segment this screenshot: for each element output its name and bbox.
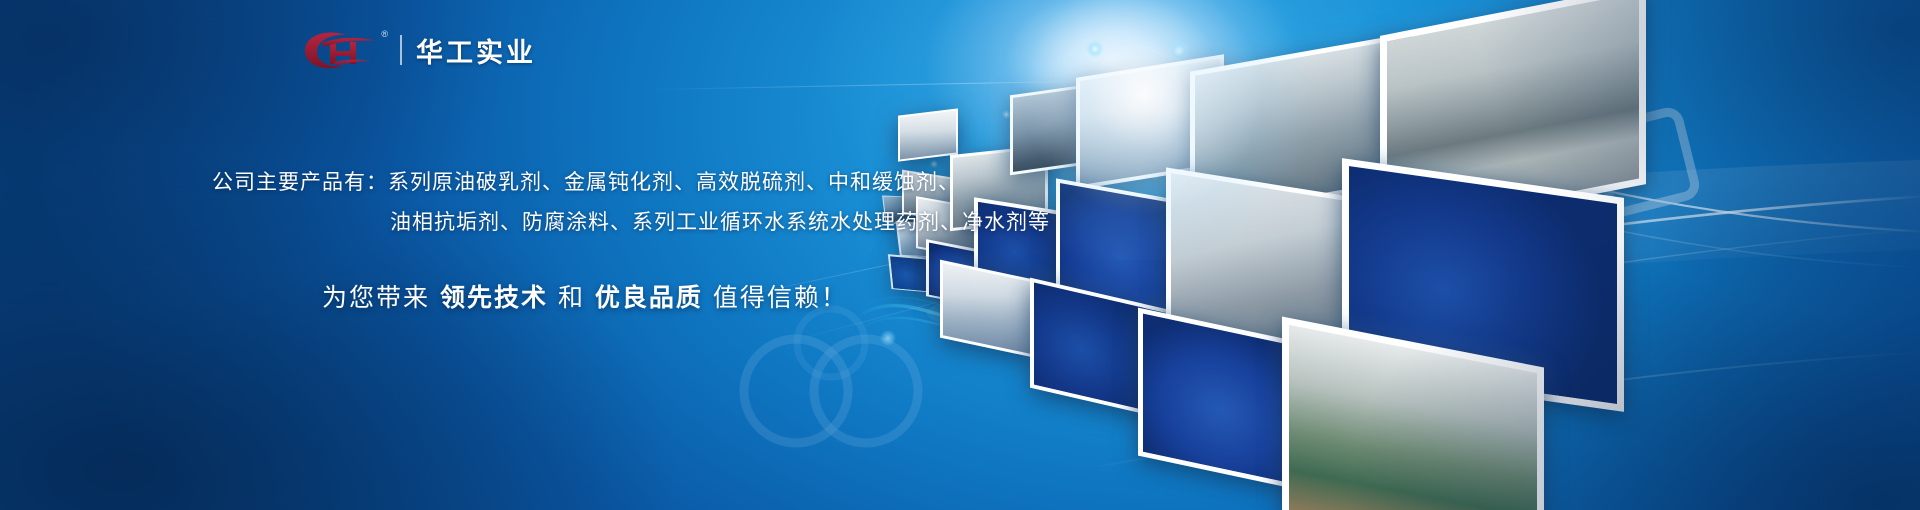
collage-photo-image — [1195, 42, 1385, 216]
collage-photo — [1342, 158, 1624, 412]
collage-photo — [1380, 0, 1646, 236]
vignette-overlay — [0, 0, 1920, 510]
collage-photo-image — [900, 111, 956, 160]
product-description: 公司主要产品有：系列原油破乳剂、金属钝化剂、高效脱硫剂、中和缓蚀剂、 油相抗垢剂… — [0, 162, 1100, 242]
collage-photo — [1282, 317, 1544, 510]
collage-photo-image — [1349, 166, 1617, 404]
glow-particle — [1150, 170, 1160, 180]
glow-particle — [1120, 330, 1134, 344]
collage-photo-image — [1171, 173, 1371, 355]
collage-photo — [940, 260, 1038, 359]
circle-watermarks — [700, 295, 960, 475]
company-name: 华工实业 — [416, 31, 536, 70]
perspective-guide-line — [1110, 57, 1590, 71]
collage-photo — [1166, 167, 1376, 360]
tagline-emphasis-quality: 优良品质 — [595, 283, 703, 312]
light-swoosh-curves — [1100, 0, 1920, 510]
company-logo[interactable]: ® 华工实业 — [300, 28, 536, 72]
hero-banner: ® 华工实业 公司主要产品有：系列原油破乳剂、金属钝化剂、高效脱硫剂、中和缓蚀剂… — [0, 0, 1920, 510]
photo-collage — [880, 0, 1920, 510]
collage-photo — [1138, 308, 1330, 497]
glow-particle — [912, 248, 924, 260]
collage-photo-image — [1143, 314, 1325, 491]
collage-photo-image — [929, 242, 995, 307]
glow-particle — [1086, 40, 1104, 58]
collage-photo — [926, 239, 997, 310]
collage-photo — [1190, 36, 1390, 221]
collage-photo-image — [890, 256, 934, 291]
collage-photo-image — [1387, 0, 1639, 227]
collage-photo-image — [1080, 59, 1220, 185]
glow-particle — [1216, 96, 1229, 109]
cyan-energy-ribbon — [855, 255, 1185, 365]
collage-photo — [1030, 278, 1172, 421]
glow-particle — [1002, 110, 1011, 119]
tagline-conjunction: 和 — [558, 283, 585, 312]
registered-trademark-icon: ® — [381, 29, 388, 39]
collage-photo — [898, 108, 958, 161]
glow-particle — [1000, 300, 1009, 309]
glow-particle — [1060, 378, 1070, 388]
tagline-emphasis-technology: 领先技术 — [440, 283, 548, 312]
glow-particle — [880, 330, 896, 346]
collage-photo-image — [943, 263, 1035, 355]
tagline: 为您带来 领先技术 和 优良品质 值得信赖！ — [322, 278, 848, 314]
logo-mark-icon: ® — [300, 28, 386, 72]
product-line-2: 油相抗垢剂、防腐涂料、系列工业循环水系统水处理药剂、净水剂等 — [0, 202, 1100, 242]
tagline-prefix: 为您带来 — [322, 283, 430, 312]
product-line-1: 公司主要产品有：系列原油破乳剂、金属钝化剂、高效脱硫剂、中和缓蚀剂、 — [0, 162, 1100, 202]
collage-photo-image — [1013, 84, 1111, 172]
decorative-squares — [1510, 95, 1750, 255]
collage-photo — [888, 254, 935, 293]
glow-particle — [1168, 40, 1190, 62]
perspective-guide-line — [640, 80, 1120, 90]
glow-particle — [1140, 86, 1151, 97]
tagline-suffix: 值得信赖！ — [713, 283, 848, 312]
logo-divider — [400, 35, 402, 65]
collage-photo-image — [1034, 283, 1168, 416]
collage-photo-image — [1289, 325, 1537, 510]
